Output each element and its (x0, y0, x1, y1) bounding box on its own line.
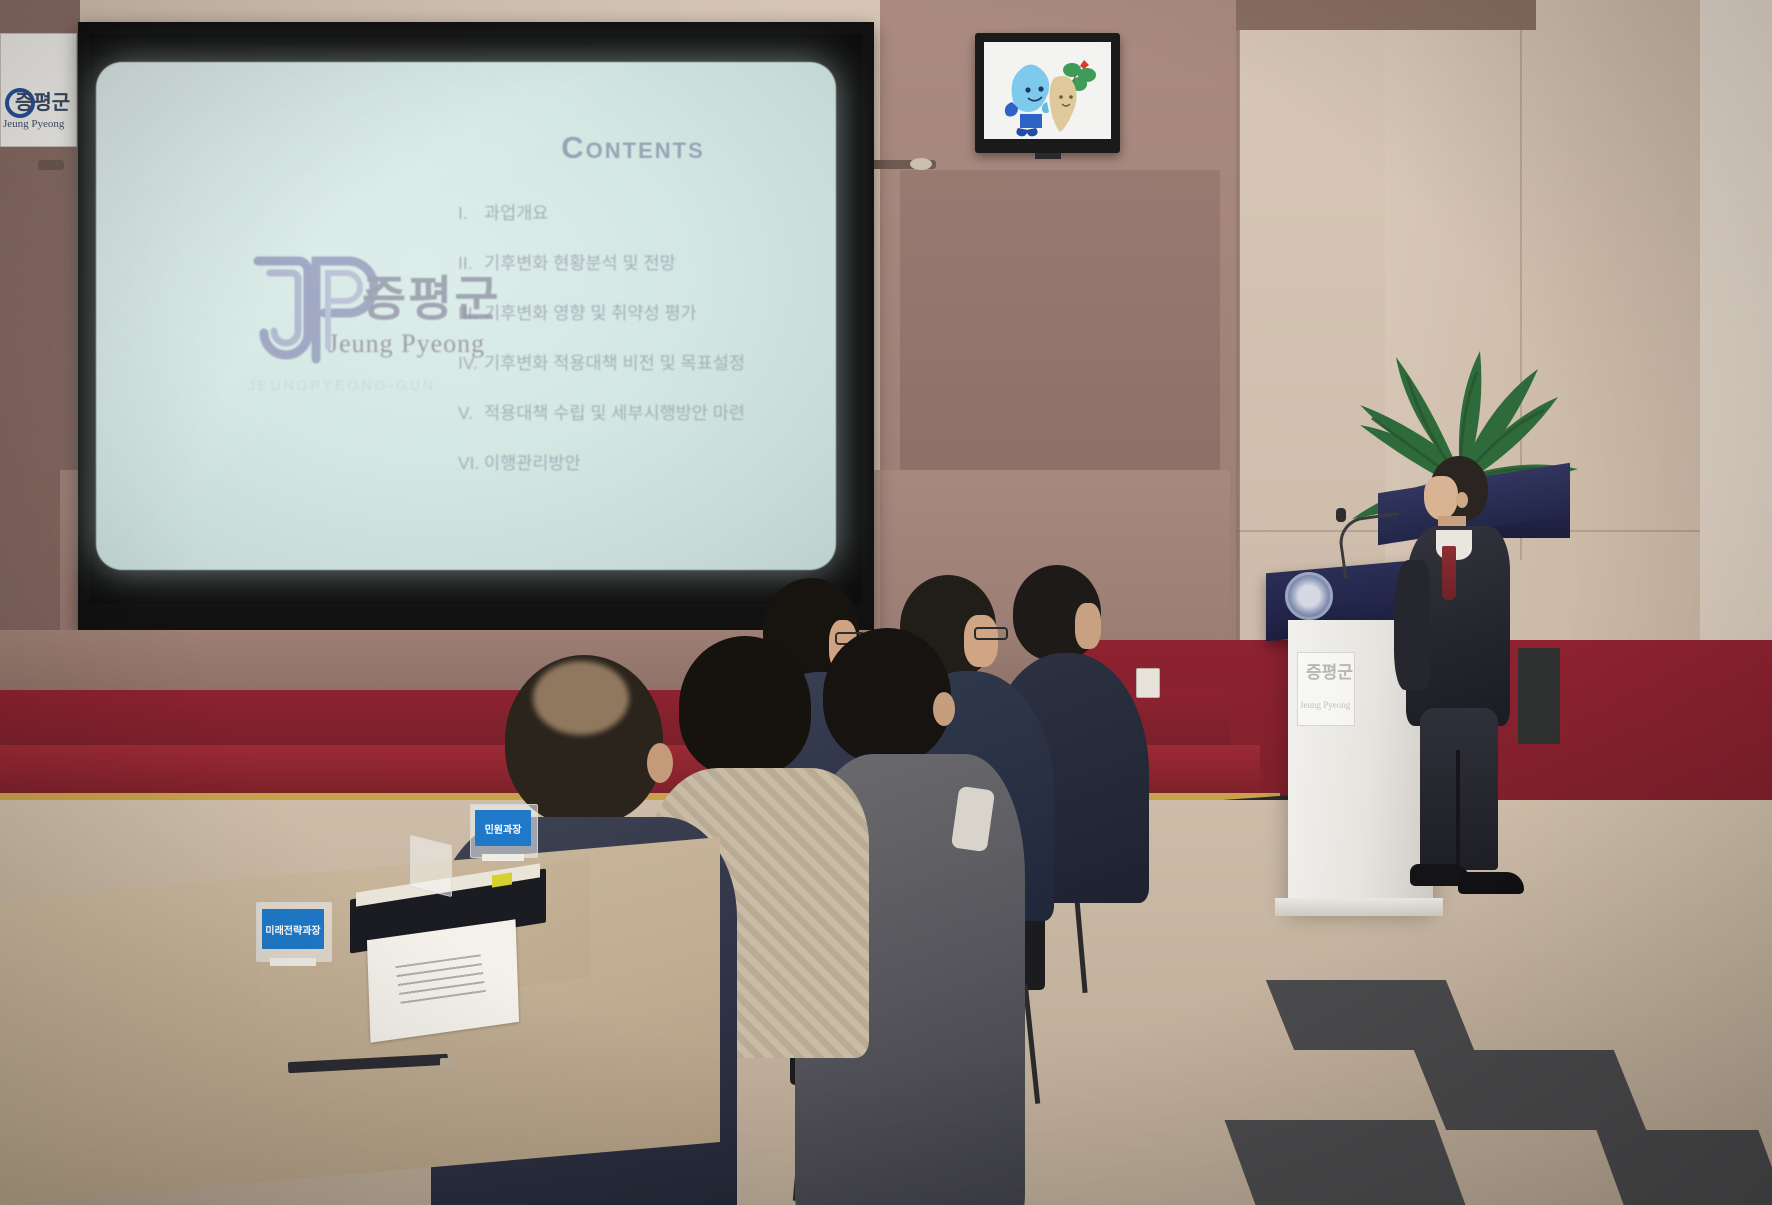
name-placard: 민원과장 (470, 804, 536, 862)
slide-item-text: 과업개요 (484, 203, 548, 223)
mascot-illustration-icon (984, 42, 1111, 139)
wall-sign-name-en: Jeung Pyeong (3, 118, 64, 130)
presenter-ear (1456, 492, 1468, 508)
slide-item: III.기후변화 영향 및 취약성 평가 (458, 300, 858, 325)
presenter-leg-split (1456, 750, 1460, 870)
slide-item-numeral: VI. (458, 453, 484, 474)
photo-scene: 증평군 Jeung Pyeong Contents I.과업개요 II.기후변화… (0, 0, 1772, 1205)
slide-item: VI.이행관리방안 (458, 450, 858, 475)
wall-sign-jeungpyeong: 증평군 Jeung Pyeong (0, 33, 77, 147)
slide-logo-tagline: JEUNGPYEONG-GUN (248, 377, 436, 393)
county-emblem-icon (1285, 572, 1333, 620)
slide-contents-list: I.과업개요 II.기후변화 현황분석 및 전망 III.기후변화 영향 및 취… (458, 200, 858, 500)
floor-tile (1225, 1120, 1466, 1205)
name-placard (410, 840, 454, 896)
presenter-shoe-right (1458, 872, 1524, 894)
audience-scalp (533, 661, 629, 735)
floor-tile (1266, 980, 1474, 1050)
presenter-necktie (1442, 546, 1456, 600)
podium-name-en: Jeung Pyeong (1300, 700, 1350, 710)
monitor-stand (1035, 153, 1061, 159)
placard-base (482, 854, 524, 861)
ceiling-light-left (38, 160, 64, 170)
slide-item: I.과업개요 (458, 200, 858, 225)
slide-item: IV.기후변화 적용대책 비전 및 목표설정 (458, 350, 858, 375)
placard-holder-side (410, 835, 452, 897)
slide-item: V.적용대책 수립 및 세부시행방안 마련 (458, 400, 858, 425)
wall-monitor (975, 33, 1120, 153)
slide-logo-name-kr: 증평군 (362, 259, 500, 329)
floor-tile (1596, 1130, 1772, 1205)
placard-card: 미래전략과장 (262, 909, 324, 949)
placard-card: 민원과장 (475, 810, 531, 846)
slide-item-text: 기후변화 적용대책 비전 및 목표설정 (484, 353, 745, 373)
slide-item-text: 기후변화 현황분석 및 전망 (484, 253, 676, 273)
slide-item: II.기후변화 현황분석 및 전망 (458, 250, 858, 275)
wall-sign-name-kr: 증평군 (15, 86, 70, 115)
slide-logo-name-en: Jeung Pyeong (328, 329, 485, 359)
slide-heading: Contents (468, 130, 798, 166)
audience-ear (647, 743, 673, 783)
wall-seam-vertical-1 (1236, 0, 1239, 690)
wall-panel-dark-center (900, 170, 1220, 470)
projection-screen: Contents I.과업개요 II.기후변화 현황분석 및 전망 III.기후… (78, 22, 874, 632)
monitor-screen (984, 42, 1111, 139)
presenter-face (1424, 476, 1458, 520)
chair-leg (1023, 984, 1041, 1104)
pen-tip (440, 1058, 456, 1068)
ceiling-edge (1236, 0, 1536, 30)
slide-item-text: 이행관리방안 (484, 453, 581, 473)
slide-item-numeral: I. (458, 203, 484, 224)
podium-name-kr: 증평군 (1306, 658, 1353, 683)
microphone-head-icon (1336, 508, 1346, 522)
slide-item-text: 기후변화 영향 및 취약성 평가 (484, 303, 697, 323)
presenter (1400, 450, 1540, 910)
slide-item-text: 적용대책 수립 및 세부시행방안 마련 (484, 403, 745, 423)
name-placard: 미래전략과장 (256, 902, 330, 966)
ceiling-light-center-2 (910, 158, 932, 170)
placard-base (270, 958, 316, 966)
wall-panel-far-right (1700, 0, 1772, 700)
slide-logo: 증평군 Jeung Pyeong JEUNGPYEONG-GUN (228, 247, 508, 427)
audience-ear (933, 692, 955, 726)
audience-face (1075, 603, 1101, 649)
floor-tile (1414, 1050, 1646, 1130)
presenter-arm (1394, 560, 1430, 690)
